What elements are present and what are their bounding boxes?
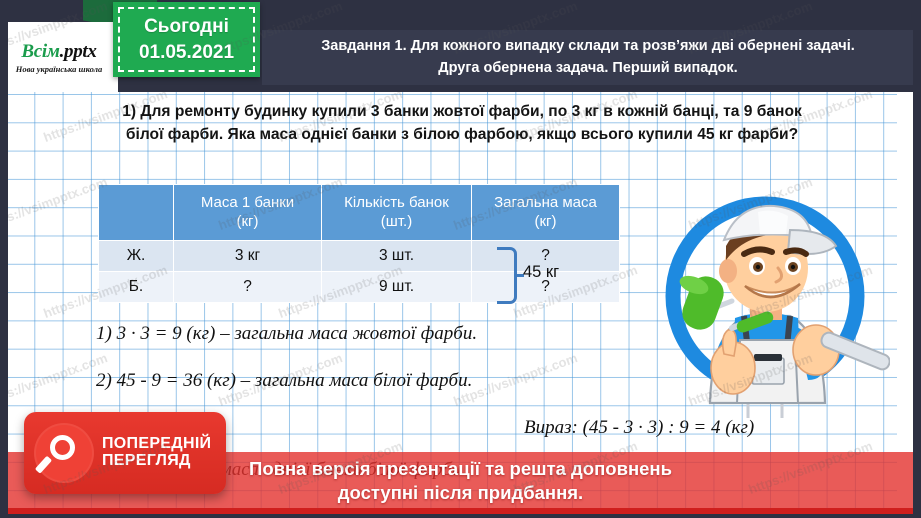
table-header-blank — [99, 185, 174, 241]
data-table: Маса 1 банки (кг) Кількість банок (шт.) … — [98, 184, 620, 303]
solution-expression: Вираз: (45 - 3 · 3) : 9 = 4 (кг) — [524, 417, 754, 439]
row-label-yellow: Ж. — [99, 241, 174, 272]
table-header-count: Кількість банок (шт.) — [322, 185, 472, 241]
preview-badge[interactable]: ПОПЕРЕДНІЙ ПЕРЕГЛЯД — [24, 412, 226, 494]
brand-logo-black: .pptx — [60, 41, 97, 62]
bottom-frame-edge — [0, 514, 921, 518]
table-header-total-l1: Загальна маса — [475, 194, 616, 213]
preview-badge-line1: ПОПЕРЕДНІЙ — [102, 436, 211, 453]
magnifier-ring — [50, 435, 75, 460]
row-count-yellow: 3 шт. — [322, 241, 472, 272]
table-header-total-l2: (кг) — [475, 213, 616, 232]
table-header-mass: Маса 1 банки (кг) — [174, 185, 322, 241]
solution-step-1: 1) 3 · 3 = 9 (кг) – загальна маса жовтої… — [96, 323, 477, 345]
slide-canvas: Всім.pptx Нова українська школа Сьогодні… — [0, 0, 921, 518]
painter-character-illustration — [640, 168, 890, 418]
preview-badge-line2: ПЕРЕГЛЯД — [102, 453, 211, 470]
paper-right-margin — [897, 90, 913, 514]
table-header-count-l1: Кількість банок — [325, 194, 468, 213]
today-badge: Сьогодні 01.05.2021 — [113, 2, 260, 77]
bottom-banner-line1: Повна версія презентації та решта доповн… — [249, 457, 672, 481]
brand-logo-subtitle: Нова українська школа — [16, 64, 102, 74]
bottom-banner-line2: доступні після придбання. — [338, 481, 583, 505]
right-frame-edge — [913, 0, 921, 518]
row-mass-yellow: 3 кг — [174, 241, 322, 272]
brand-logo-title: Всім.pptx — [21, 41, 96, 63]
task-heading-line1: Завдання 1. Для кожного випадку склади т… — [321, 36, 855, 57]
table-header-mass-l2: (кг) — [177, 213, 318, 232]
table-head: Маса 1 банки (кг) Кількість банок (шт.) … — [99, 185, 620, 241]
today-badge-label: Сьогодні — [144, 14, 229, 40]
table-header-row: Маса 1 банки (кг) Кількість банок (шт.) … — [99, 185, 620, 241]
brace-total-label: 45 кг — [523, 263, 559, 282]
task-heading: Завдання 1. Для кожного випадку склади т… — [262, 30, 914, 85]
task-heading-line2: Друга обернена задача. Перший випадок. — [438, 58, 737, 79]
table-header-total: Загальна маса (кг) — [472, 185, 620, 241]
brand-logo: Всім.pptx Нова українська школа — [0, 22, 118, 92]
today-badge-date: 01.05.2021 — [139, 40, 234, 66]
solution-step-2: 2) 45 - 9 = 36 (кг) – загальна маса біло… — [96, 370, 472, 392]
brace-bracket — [497, 247, 517, 304]
problem-line-2: білої фарби. Яка маса однієї банки з біл… — [26, 124, 898, 147]
brand-logo-green: Всім — [21, 41, 59, 62]
problem-statement: 1) Для ремонту будинку купили 3 банки жо… — [26, 101, 898, 147]
row-count-white: 9 шт. — [322, 272, 472, 303]
table-header-mass-l1: Маса 1 банки — [177, 194, 318, 213]
row-mass-white-unknown: ? — [174, 272, 322, 303]
row-label-white: Б. — [99, 272, 174, 303]
problem-line-1: 1) Для ремонту будинку купили 3 банки жо… — [26, 101, 898, 124]
table-header-count-l2: (шт.) — [325, 213, 468, 232]
left-frame-edge — [0, 0, 8, 518]
preview-badge-text: ПОПЕРЕДНІЙ ПЕРЕГЛЯД — [102, 436, 211, 470]
magnifier-handle — [35, 456, 52, 474]
magnifier-icon — [34, 423, 94, 483]
